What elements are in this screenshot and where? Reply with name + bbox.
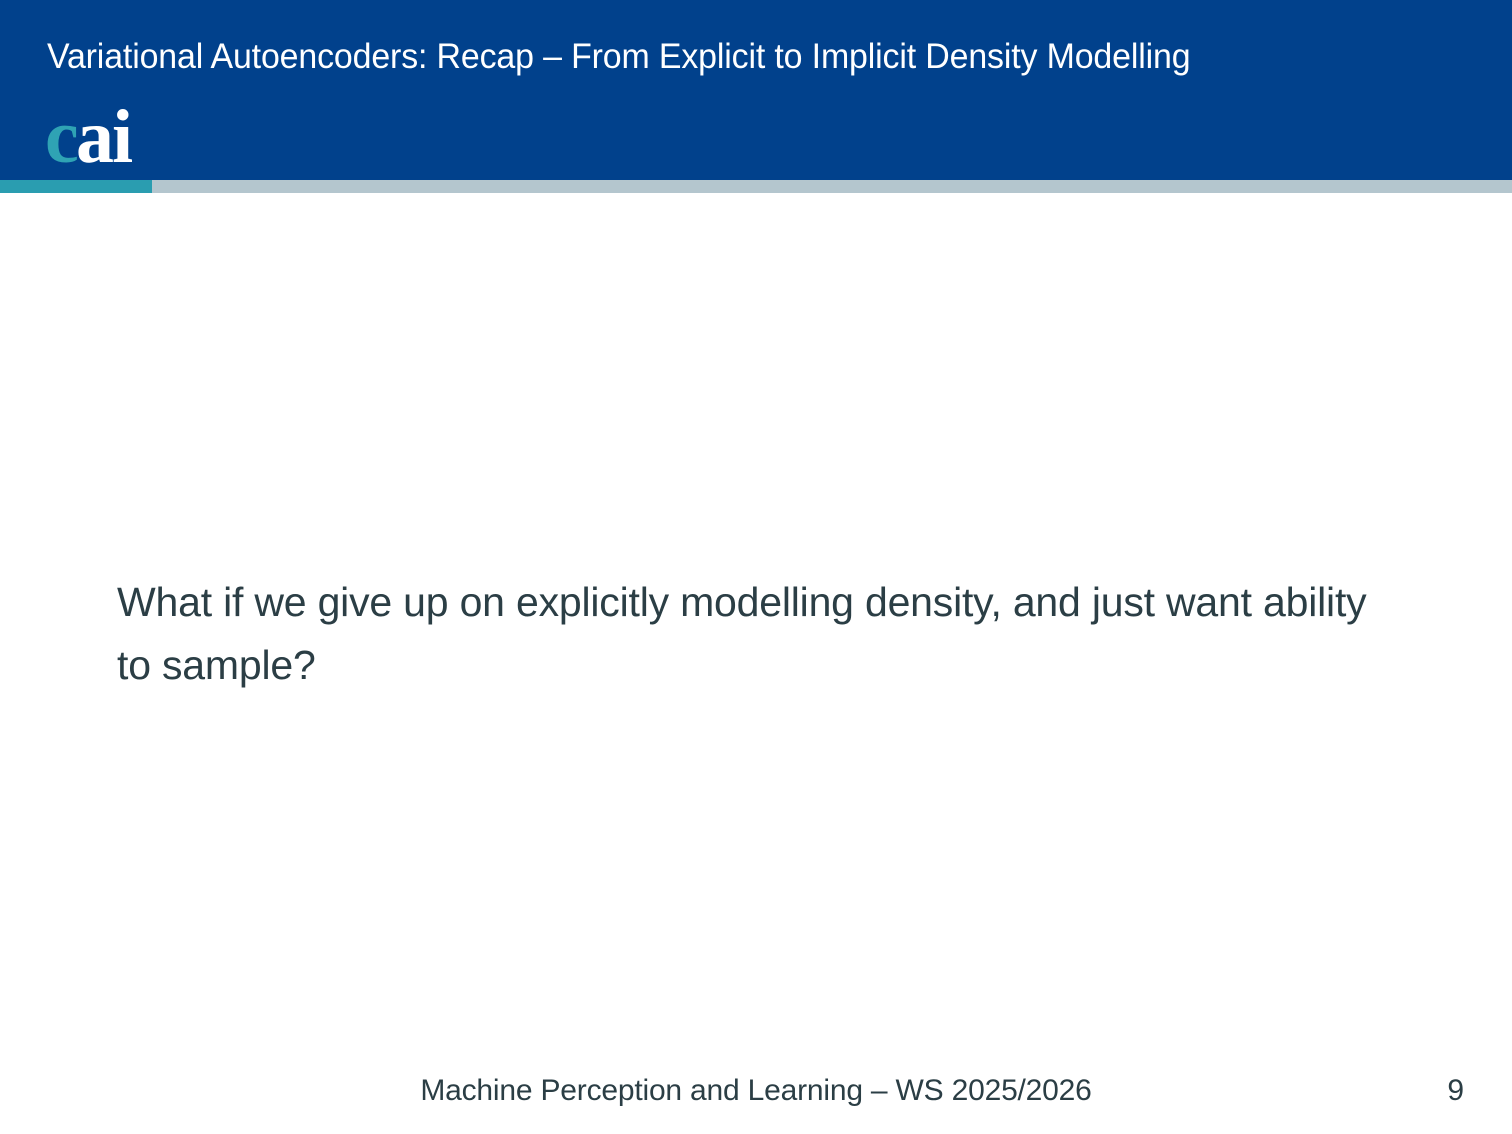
footer-course-label: Machine Perception and Learning – WS 202… [0, 1074, 1512, 1108]
logo-letters-ai: ai [76, 103, 131, 171]
slide-header: Variational Autoencoders: Recap – From E… [0, 0, 1512, 180]
accent-bar-teal [0, 180, 152, 193]
accent-bar-grey [152, 180, 1512, 193]
logo-letter-c: c [45, 103, 77, 171]
page-title: Variational Autoencoders: Recap – From E… [47, 36, 1408, 77]
slide-footer: Machine Perception and Learning – WS 202… [0, 1060, 1512, 1134]
cai-logo: c ai [45, 112, 160, 180]
body-paragraph: What if we give up on explicitly modelli… [117, 571, 1367, 697]
slide-body: What if we give up on explicitly modelli… [0, 193, 1512, 1053]
footer-page-number: 9 [1447, 1074, 1464, 1108]
